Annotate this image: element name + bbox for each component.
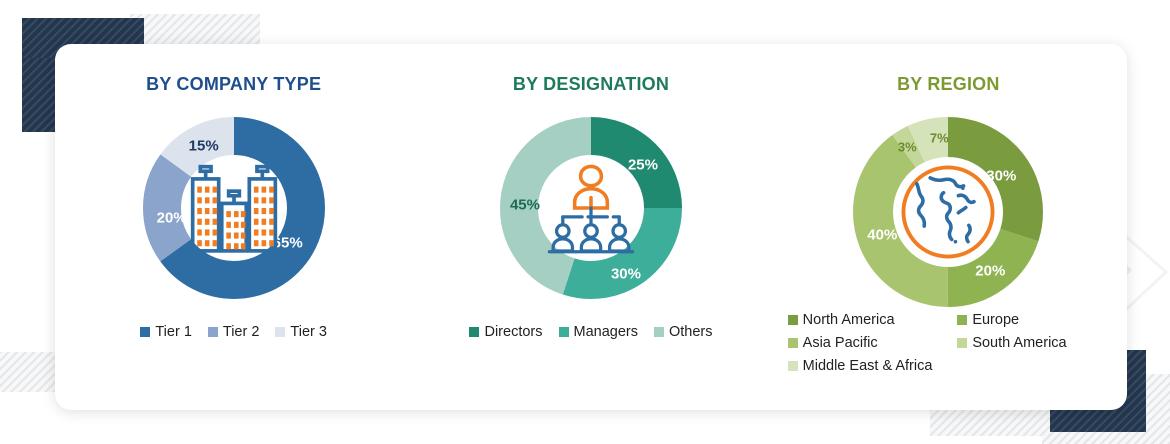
donut-chart-region: 30% 20% 40% 3% 7% bbox=[844, 108, 1052, 316]
infographic-canvas: BY COMPANY TYPE 65% 20% 15% bbox=[0, 0, 1170, 444]
legend-item-tier-1[interactable]: Tier 1 bbox=[140, 324, 192, 340]
office-buildings-icon bbox=[185, 159, 283, 257]
legend-swatch-icon-south-america bbox=[957, 338, 967, 348]
legend-item-tier-2[interactable]: Tier 2 bbox=[208, 324, 260, 340]
globe-icon bbox=[899, 163, 997, 261]
donut-hub-region bbox=[899, 163, 997, 261]
legend-label-europe: Europe bbox=[972, 312, 1019, 328]
donut-chart-company-type: 65% 20% 15% bbox=[134, 108, 334, 308]
donut-chart-designation: 25% 30% 45% bbox=[491, 108, 691, 308]
legend-item-others[interactable]: Others bbox=[654, 324, 713, 340]
panel-title-region: BY REGION bbox=[770, 74, 1127, 95]
panels-row: BY COMPANY TYPE 65% 20% 15% bbox=[55, 44, 1127, 410]
legend-label-others: Others bbox=[669, 324, 713, 340]
legend-label-tier-3: Tier 3 bbox=[290, 324, 327, 340]
legend-swatch-icon-north-america bbox=[788, 315, 798, 325]
legend-swatch-icon-europe bbox=[957, 315, 967, 325]
legend-label-north-america: North America bbox=[803, 312, 895, 328]
legend-swatch-icon-directors bbox=[469, 327, 479, 337]
legend-swatch-icon-managers bbox=[559, 327, 569, 337]
legend-swatch-icon-tier-2 bbox=[208, 327, 218, 337]
donut-hub-company-type bbox=[185, 159, 283, 257]
legend-label-asia-pacific: Asia Pacific bbox=[803, 335, 878, 351]
legend-item-south-america[interactable]: South America bbox=[957, 335, 1127, 351]
legend-region: North America Europe Asia Pacific South … bbox=[770, 312, 1127, 378]
legend-swatch-icon-asia-pacific bbox=[788, 338, 798, 348]
legend-item-managers[interactable]: Managers bbox=[559, 324, 638, 340]
legend-label-south-america: South America bbox=[972, 335, 1066, 351]
charts-card: BY COMPANY TYPE 65% 20% 15% bbox=[55, 44, 1127, 410]
legend-swatch-icon-tier-3 bbox=[275, 327, 285, 337]
legend-item-asia-pacific[interactable]: Asia Pacific bbox=[788, 335, 958, 351]
legend-designation: Directors Managers Others bbox=[412, 324, 769, 340]
legend-item-middle-east-africa[interactable]: Middle East & Africa bbox=[788, 358, 958, 374]
legend-label-managers: Managers bbox=[574, 324, 638, 340]
legend-swatch-icon-middle-east-africa bbox=[788, 361, 798, 371]
panel-designation: BY DESIGNATION 25% 30% 45% bbox=[412, 44, 769, 410]
legend-label-tier-1: Tier 1 bbox=[155, 324, 192, 340]
legend-label-middle-east-africa: Middle East & Africa bbox=[803, 358, 933, 374]
panel-title-company-type: BY COMPANY TYPE bbox=[55, 74, 412, 95]
donut-hub-designation bbox=[542, 159, 640, 257]
panel-region: BY REGION 30% 20% 40% 3% 7% bbox=[770, 44, 1127, 410]
legend-item-tier-3[interactable]: Tier 3 bbox=[275, 324, 327, 340]
legend-label-tier-2: Tier 2 bbox=[223, 324, 260, 340]
panel-title-designation: BY DESIGNATION bbox=[412, 74, 769, 95]
legend-label-directors: Directors bbox=[484, 324, 542, 340]
legend-item-north-america[interactable]: North America bbox=[788, 312, 958, 328]
legend-item-europe[interactable]: Europe bbox=[957, 312, 1127, 328]
legend-item-directors[interactable]: Directors bbox=[469, 324, 542, 340]
legend-company-type: Tier 1 Tier 2 Tier 3 bbox=[55, 324, 412, 340]
panel-company-type: BY COMPANY TYPE 65% 20% 15% bbox=[55, 44, 412, 410]
legend-swatch-icon-tier-1 bbox=[140, 327, 150, 337]
org-chart-people-icon bbox=[542, 159, 640, 257]
legend-swatch-icon-others bbox=[654, 327, 664, 337]
